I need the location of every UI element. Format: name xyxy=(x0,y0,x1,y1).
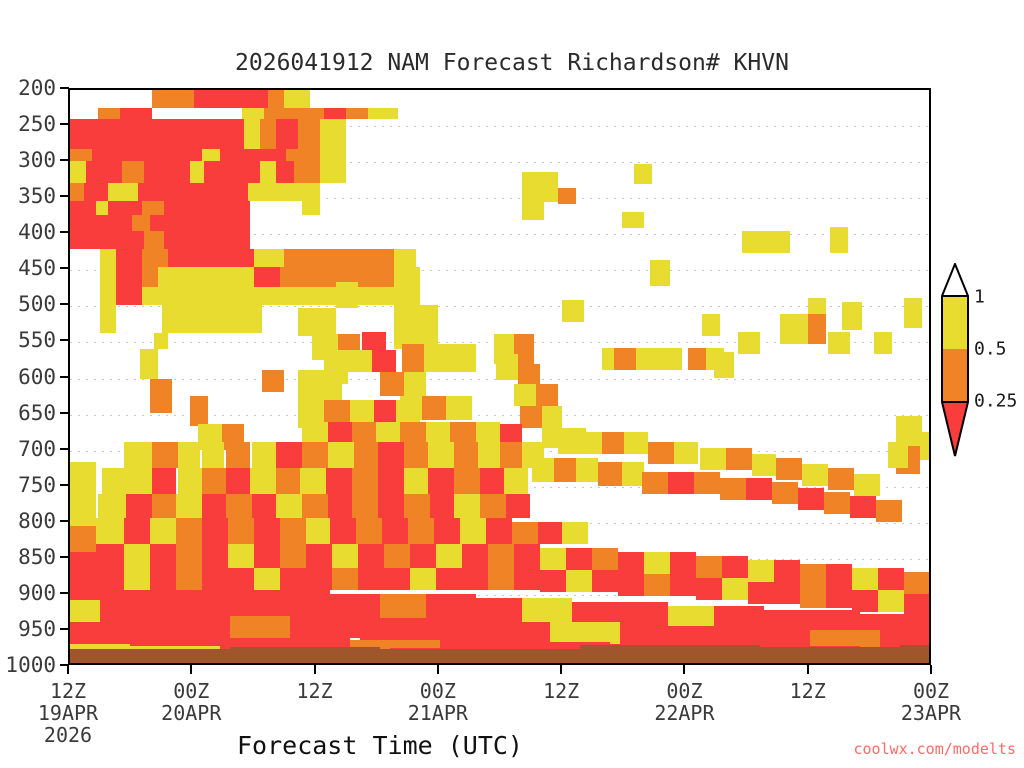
heatmap-cell xyxy=(284,90,310,108)
heatmap-cell xyxy=(254,267,280,287)
heatmap-cell xyxy=(544,172,558,202)
legend-band[interactable] xyxy=(941,349,969,401)
heatmap-cell xyxy=(178,442,200,468)
y-axis-tick-label: 950 xyxy=(0,617,56,641)
heatmap-cell xyxy=(70,201,96,215)
heatmap-cell xyxy=(436,544,462,568)
heatmap-cell xyxy=(636,348,658,370)
heatmap-cell xyxy=(280,518,306,544)
heatmap-cell xyxy=(562,300,584,322)
heatmap-cell xyxy=(410,544,436,568)
y-axis-tick-label: 550 xyxy=(0,328,56,352)
heatmap-cell xyxy=(242,108,264,119)
heatmap-cell xyxy=(536,384,558,406)
heatmap-cell xyxy=(522,598,572,622)
plot-area[interactable] xyxy=(68,88,931,665)
heatmap-cell xyxy=(540,570,566,592)
heatmap-cell xyxy=(138,590,184,616)
heatmap-cell xyxy=(904,594,931,616)
heatmap-cell xyxy=(268,90,284,108)
heatmap-cell xyxy=(634,164,652,184)
heatmap-cell xyxy=(330,594,380,618)
heatmap-cell xyxy=(378,494,404,518)
x-axis-tick-time: 12Z xyxy=(790,679,826,703)
heatmap-cell xyxy=(150,215,250,231)
y-axis-tick-label: 200 xyxy=(0,76,56,100)
heatmap-cell xyxy=(808,298,826,314)
heatmap-cell xyxy=(142,249,168,267)
page-title: 2026041912 NAM Forecast Richardson# KHVN xyxy=(0,50,1024,76)
x-axis-tick-mark xyxy=(314,665,316,674)
heatmap-cell xyxy=(760,231,790,253)
heatmap-cell xyxy=(154,333,168,349)
heatmap-cell xyxy=(124,544,150,568)
heatmap-cell xyxy=(624,432,648,454)
heatmap-cell xyxy=(394,249,416,267)
heatmap-cell xyxy=(346,108,368,119)
heatmap-cell xyxy=(276,442,302,468)
heatmap-cell xyxy=(540,548,566,570)
heatmap-cell xyxy=(642,472,668,494)
heatmap-cell xyxy=(618,552,644,574)
heatmap-cell xyxy=(876,500,902,522)
heatmap-cells xyxy=(70,90,929,663)
heatmap-cell xyxy=(644,552,670,574)
heatmap-cell xyxy=(460,518,486,544)
x-axis-tick-date: 20APR xyxy=(161,701,221,725)
heatmap-cell xyxy=(302,494,328,518)
heatmap-cell xyxy=(558,188,576,204)
heatmap-cell xyxy=(480,468,504,494)
heatmap-cell xyxy=(358,568,384,590)
heatmap-cell xyxy=(358,544,384,568)
heatmap-cell xyxy=(520,406,542,428)
heatmap-cell xyxy=(326,468,352,494)
heatmap-cell xyxy=(96,518,124,544)
x-axis-tick-time: 00Z xyxy=(173,679,209,703)
heatmap-cell xyxy=(888,442,908,468)
heatmap-cell xyxy=(394,267,420,287)
heatmap-cell xyxy=(298,308,336,336)
heatmap-cell xyxy=(328,442,354,468)
heatmap-cell xyxy=(98,590,138,616)
heatmap-cell xyxy=(228,568,254,590)
heatmap-cell xyxy=(332,568,358,590)
terrain-segment xyxy=(900,645,931,663)
x-axis-tick-time: 00Z xyxy=(913,679,949,703)
heatmap-cell xyxy=(178,468,202,494)
heatmap-cell xyxy=(90,215,132,231)
heatmap-cell xyxy=(280,590,330,616)
heatmap-cell xyxy=(264,108,324,119)
heatmap-cell xyxy=(96,544,124,568)
heatmap-cell xyxy=(152,468,176,494)
y-axis-tick-label: 350 xyxy=(0,184,56,208)
heatmap-cell xyxy=(70,622,100,646)
y-axis-tick-label: 450 xyxy=(0,256,56,280)
heatmap-cell xyxy=(98,494,126,518)
heatmap-cell xyxy=(746,478,772,500)
heatmap-cell xyxy=(780,314,808,344)
heatmap-cell xyxy=(190,161,204,183)
y-axis-tick-label: 700 xyxy=(0,437,56,461)
heatmap-cell xyxy=(298,119,320,149)
heatmap-cell xyxy=(96,231,144,249)
heatmap-cell xyxy=(102,468,128,494)
heatmap-cell xyxy=(462,544,488,568)
heatmap-cell xyxy=(694,472,720,494)
heatmap-cell xyxy=(228,518,254,544)
heatmap-cell xyxy=(404,468,428,494)
heatmap-cell xyxy=(184,590,234,616)
heatmap-cell xyxy=(276,161,294,183)
terrain-segment xyxy=(230,647,380,663)
heatmap-cell xyxy=(116,249,142,267)
heatmap-cell xyxy=(126,494,152,518)
heatmap-cell xyxy=(422,396,446,420)
heatmap-cell xyxy=(436,568,462,590)
heatmap-cell xyxy=(176,494,202,518)
heatmap-cell xyxy=(280,568,306,590)
x-axis-tick-date: 23APR xyxy=(901,701,961,725)
heatmap-cell xyxy=(336,282,358,308)
heatmap-cell xyxy=(168,249,254,267)
heatmap-cell xyxy=(152,90,194,108)
heatmap-cell xyxy=(302,201,320,215)
heatmap-cell xyxy=(276,494,302,518)
heatmap-cell xyxy=(260,161,276,183)
heatmap-cell xyxy=(670,552,696,574)
heatmap-cell xyxy=(618,574,644,596)
heatmap-cell xyxy=(752,454,776,476)
heatmap-cell xyxy=(100,287,116,305)
heatmap-cell xyxy=(226,442,250,468)
heatmap-cell xyxy=(70,574,98,600)
heatmap-cell xyxy=(176,568,202,590)
heatmap-cell xyxy=(244,119,260,149)
heatmap-cell xyxy=(648,442,674,464)
heatmap-cell xyxy=(150,568,176,590)
heatmap-cell xyxy=(228,544,254,568)
x-axis-tick-mark xyxy=(190,665,192,674)
heatmap-cell xyxy=(384,544,410,568)
heatmap-cell xyxy=(478,442,500,468)
heatmap-cell xyxy=(404,442,428,468)
x-axis-tick-mark xyxy=(930,665,932,674)
heatmap-cell xyxy=(480,494,506,518)
heatmap-cell xyxy=(878,568,904,590)
heatmap-cell xyxy=(428,468,454,494)
x-axis-tick-time: 00Z xyxy=(666,679,702,703)
x-axis-title: Forecast Time (UTC) xyxy=(0,731,760,760)
heatmap-cell xyxy=(160,616,230,638)
heatmap-cell xyxy=(158,267,254,287)
heatmap-cell xyxy=(742,231,760,253)
heatmap-cell xyxy=(462,568,488,590)
y-axis-tick-label: 850 xyxy=(0,545,56,569)
heatmap-cell xyxy=(592,548,618,570)
heatmap-cell xyxy=(290,616,360,638)
heatmap-cell xyxy=(328,494,352,518)
heatmap-cell xyxy=(854,474,880,496)
heatmap-cell xyxy=(842,302,862,330)
heatmap-cell xyxy=(176,518,202,544)
heatmap-cell xyxy=(98,568,124,590)
heatmap-cell xyxy=(852,568,878,590)
x-axis-tick-time: 12Z xyxy=(543,679,579,703)
heatmap-cell xyxy=(176,544,202,568)
x-axis-tick-mark xyxy=(683,665,685,674)
heatmap-cell xyxy=(278,183,320,201)
heatmap-cell xyxy=(320,119,346,149)
heatmap-cell xyxy=(254,544,280,568)
heatmap-cell xyxy=(100,249,116,267)
x-axis-tick-date: 19APR xyxy=(38,701,98,725)
heatmap-cell xyxy=(362,332,386,350)
terrain-segment xyxy=(580,645,760,663)
heatmap-cell xyxy=(486,518,512,544)
heatmap-cell xyxy=(320,161,346,183)
heatmap-cell xyxy=(904,298,922,328)
heatmap-cell xyxy=(382,518,408,544)
heatmap-cell xyxy=(454,442,478,468)
heatmap-cell xyxy=(70,149,92,161)
heatmap-cell xyxy=(276,119,298,149)
heatmap-cell xyxy=(378,442,404,468)
heatmap-cell xyxy=(384,568,410,590)
legend-over-arrow xyxy=(941,263,969,297)
heatmap-cell xyxy=(100,267,116,287)
heatmap-cell xyxy=(852,590,878,612)
heatmap-cell xyxy=(830,227,848,253)
heatmap-cell xyxy=(566,548,592,570)
heatmap-cell xyxy=(410,568,436,590)
x-axis-tick-mark xyxy=(437,665,439,674)
legend-label: 0.5 xyxy=(974,339,1007,360)
heatmap-cell xyxy=(824,492,850,514)
heatmap-cell xyxy=(554,458,576,482)
heatmap-cell xyxy=(514,544,540,568)
heatmap-cell xyxy=(70,502,96,526)
chart-root: 2026041912 NAM Forecast Richardson# KHVN… xyxy=(0,0,1024,768)
heatmap-cell xyxy=(430,494,454,518)
heatmap-cell xyxy=(202,568,228,590)
heatmap-cell xyxy=(142,267,158,287)
heatmap-cell xyxy=(202,149,220,161)
heatmap-cell xyxy=(580,432,602,454)
heatmap-cell xyxy=(644,574,670,596)
heatmap-cell xyxy=(302,442,328,468)
heatmap-cell xyxy=(602,348,614,370)
heatmap-cell xyxy=(124,518,150,544)
heatmap-cell xyxy=(380,594,426,618)
heatmap-cell xyxy=(254,568,280,590)
heatmap-cell xyxy=(260,119,276,149)
heatmap-cell xyxy=(70,462,96,490)
heatmap-cell xyxy=(674,442,698,464)
heatmap-cell xyxy=(404,494,430,518)
heatmap-cell xyxy=(190,396,208,426)
heatmap-cell xyxy=(562,522,588,544)
heatmap-cell xyxy=(696,578,722,600)
heatmap-cell xyxy=(230,616,290,638)
heatmap-cell xyxy=(538,522,562,544)
heatmap-cell xyxy=(904,572,931,594)
x-axis-tick-mark xyxy=(807,665,809,674)
color-legend[interactable]: 10.50.25 xyxy=(941,297,969,457)
heatmap-cell xyxy=(92,149,202,161)
heatmap-cell xyxy=(144,231,164,249)
heatmap-cell xyxy=(234,590,280,616)
y-axis-tick-label: 1000 xyxy=(0,653,56,677)
heatmap-cell xyxy=(170,305,244,333)
heatmap-cell xyxy=(514,384,536,406)
heatmap-cell xyxy=(204,161,260,183)
heatmap-cell xyxy=(352,494,378,518)
heatmap-cell xyxy=(808,314,826,344)
heatmap-cell xyxy=(748,582,774,604)
heatmap-cell xyxy=(244,305,262,333)
heatmap-cell xyxy=(622,212,644,228)
heatmap-cell xyxy=(380,372,404,396)
heatmap-cell xyxy=(602,432,624,454)
heatmap-cell xyxy=(878,590,904,612)
heatmap-cell xyxy=(550,622,620,644)
heatmap-cell xyxy=(332,544,358,568)
heatmap-cell xyxy=(164,201,250,215)
heatmap-cell xyxy=(100,616,160,638)
heatmap-cell xyxy=(252,442,276,468)
heatmap-cell xyxy=(488,544,514,568)
heatmap-cell xyxy=(144,161,190,183)
heatmap-cell xyxy=(150,379,172,413)
heatmap-cell xyxy=(250,468,276,494)
heatmap-cell xyxy=(488,568,514,590)
heatmap-cell xyxy=(70,526,96,552)
heatmap-cell xyxy=(348,350,372,372)
heatmap-cell xyxy=(426,594,476,618)
heatmap-cell xyxy=(124,442,152,468)
heatmap-cell xyxy=(738,332,760,354)
heatmap-cell xyxy=(306,568,332,590)
heatmap-cell xyxy=(194,90,268,108)
heatmap-cell xyxy=(512,522,538,544)
heatmap-cell xyxy=(360,618,420,640)
heatmap-cell xyxy=(650,260,670,286)
x-axis-tick-time: 00Z xyxy=(420,679,456,703)
x-axis-tick-time: 12Z xyxy=(297,679,333,703)
heatmap-cell xyxy=(368,108,398,119)
heatmap-cell xyxy=(356,518,382,544)
heatmap-cell xyxy=(300,468,326,494)
y-axis-tick-label: 800 xyxy=(0,509,56,533)
heatmap-cell xyxy=(164,231,250,249)
heatmap-cell xyxy=(262,370,284,392)
heatmap-cell xyxy=(98,108,120,119)
heatmap-cell xyxy=(142,201,164,215)
heatmap-cell xyxy=(726,448,752,470)
heatmap-cell xyxy=(324,370,342,400)
terrain-segment xyxy=(760,647,900,663)
heatmap-cell xyxy=(70,231,96,249)
terrain-segment xyxy=(380,649,580,663)
y-axis-tick-label: 250 xyxy=(0,112,56,136)
heatmap-cell xyxy=(284,249,394,267)
heatmap-cell xyxy=(408,518,434,544)
heatmap-cell xyxy=(434,518,460,544)
legend-band[interactable] xyxy=(941,297,969,349)
y-axis-tick-label: 600 xyxy=(0,365,56,389)
heatmap-cell xyxy=(558,432,580,454)
heatmap-cell xyxy=(252,494,276,518)
y-axis-tick-label: 500 xyxy=(0,292,56,316)
heatmap-cell xyxy=(428,442,454,468)
heatmap-cell xyxy=(70,183,84,201)
heatmap-cell xyxy=(276,468,300,494)
heatmap-cell xyxy=(826,586,852,608)
heatmap-cell xyxy=(598,462,622,486)
heatmap-cell xyxy=(150,544,176,568)
heatmap-cell xyxy=(828,468,854,490)
heatmap-cell xyxy=(424,344,450,372)
heatmap-cell xyxy=(706,348,724,370)
heatmap-cell xyxy=(152,494,176,518)
heatmap-cell xyxy=(70,600,100,622)
y-axis-tick-label: 750 xyxy=(0,473,56,497)
heatmap-cell xyxy=(128,468,152,494)
legend-under-arrow xyxy=(941,401,969,457)
heatmap-cell xyxy=(774,560,800,582)
heatmap-cell xyxy=(394,287,420,305)
heatmap-cell xyxy=(84,183,96,201)
heatmap-cell xyxy=(162,305,174,333)
heatmap-cell xyxy=(202,468,226,494)
heatmap-cell xyxy=(70,215,90,231)
heatmap-cell xyxy=(702,314,720,336)
heatmap-cell xyxy=(202,544,228,568)
y-axis-tick-label: 650 xyxy=(0,401,56,425)
heatmap-cell xyxy=(576,458,598,482)
heatmap-cell xyxy=(800,564,826,586)
x-axis-tick-date: 21APR xyxy=(408,701,468,725)
y-axis-tick-label: 300 xyxy=(0,148,56,172)
heatmap-cell xyxy=(542,406,562,428)
heatmap-cell xyxy=(748,560,774,582)
heatmap-cell xyxy=(454,494,480,518)
heatmap-cell xyxy=(722,578,748,600)
heatmap-cell xyxy=(298,370,324,400)
heatmap-cell xyxy=(700,448,726,470)
heatmap-cell xyxy=(772,482,798,504)
heatmap-cell xyxy=(132,215,150,231)
heatmap-cell xyxy=(108,183,138,201)
heatmap-cell xyxy=(500,442,522,468)
heatmap-cell xyxy=(920,432,931,460)
heatmap-cell xyxy=(86,161,122,183)
heatmap-cell xyxy=(306,518,330,544)
heatmap-cell xyxy=(306,544,332,568)
heatmap-cell xyxy=(402,344,424,372)
heatmap-cell xyxy=(622,462,644,486)
heatmap-cell xyxy=(514,568,540,590)
heatmap-cell xyxy=(688,348,706,370)
heatmap-cell xyxy=(116,267,142,287)
y-axis-tick-label: 400 xyxy=(0,220,56,244)
legend-label: 1 xyxy=(974,287,985,308)
heatmap-cell xyxy=(294,161,320,183)
heatmap-cell xyxy=(454,468,480,494)
heatmap-cell xyxy=(802,464,828,486)
